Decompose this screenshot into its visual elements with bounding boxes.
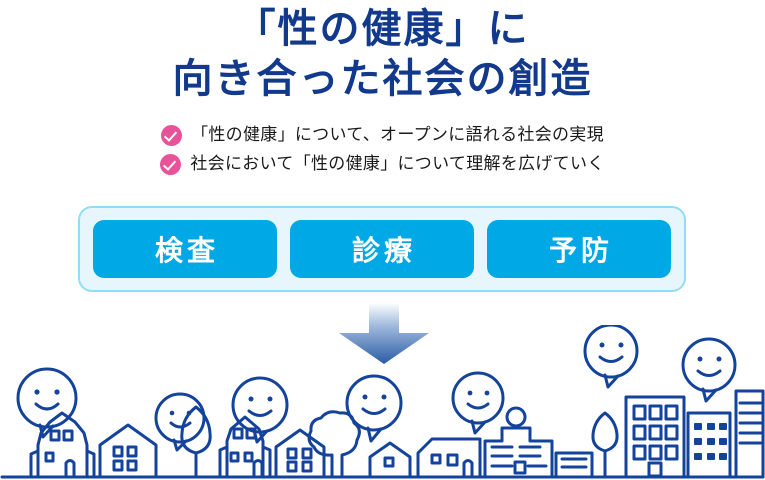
city-illustration <box>0 325 765 480</box>
house <box>418 439 480 477</box>
dotted-building <box>688 413 730 477</box>
house <box>276 430 324 477</box>
bullet-list: 「性の健康」について、オープンに語れる社会の実現 社会において「性の健康」につい… <box>0 122 765 177</box>
page-title: 「性の健康」に 向き合った社会の創造 <box>0 4 765 104</box>
tree <box>309 412 359 477</box>
tower-building <box>626 397 684 477</box>
smiley-bubble <box>453 373 503 433</box>
service-pill-panel: 検査 診療 予防 <box>78 206 686 292</box>
poster-root: 「性の健康」に 向き合った社会の創造 「性の健康」について、オープンに語れる社会… <box>0 0 765 480</box>
house <box>100 425 156 477</box>
pill-kensa[interactable]: 検査 <box>93 220 277 278</box>
bullet-label: 「性の健康」について、オープンに語れる社会の実現 <box>191 122 604 148</box>
check-circle-icon <box>161 125 182 146</box>
office-building <box>556 453 592 477</box>
house <box>370 443 410 477</box>
check-circle-icon <box>160 154 181 175</box>
smiley-bubble <box>347 376 401 441</box>
smiley-bubble <box>156 394 204 450</box>
tree <box>593 413 617 477</box>
title-line-2: 向き合った社会の創造 <box>0 54 765 104</box>
list-item: 社会において「性の健康」について理解を広げていく <box>160 151 604 177</box>
pill-yobo[interactable]: 予防 <box>487 220 671 278</box>
list-item: 「性の健康」について、オープンに語れる社会の実現 <box>161 122 604 148</box>
striped-tower <box>736 391 763 477</box>
bullet-label: 社会において「性の健康」について理解を広げていく <box>190 151 604 177</box>
smiley-bubble <box>585 325 637 387</box>
hospital-building <box>485 408 552 477</box>
pill-shinryo[interactable]: 診療 <box>290 220 474 278</box>
title-line-1: 「性の健康」に <box>0 4 765 54</box>
smiley-bubble <box>683 339 735 401</box>
